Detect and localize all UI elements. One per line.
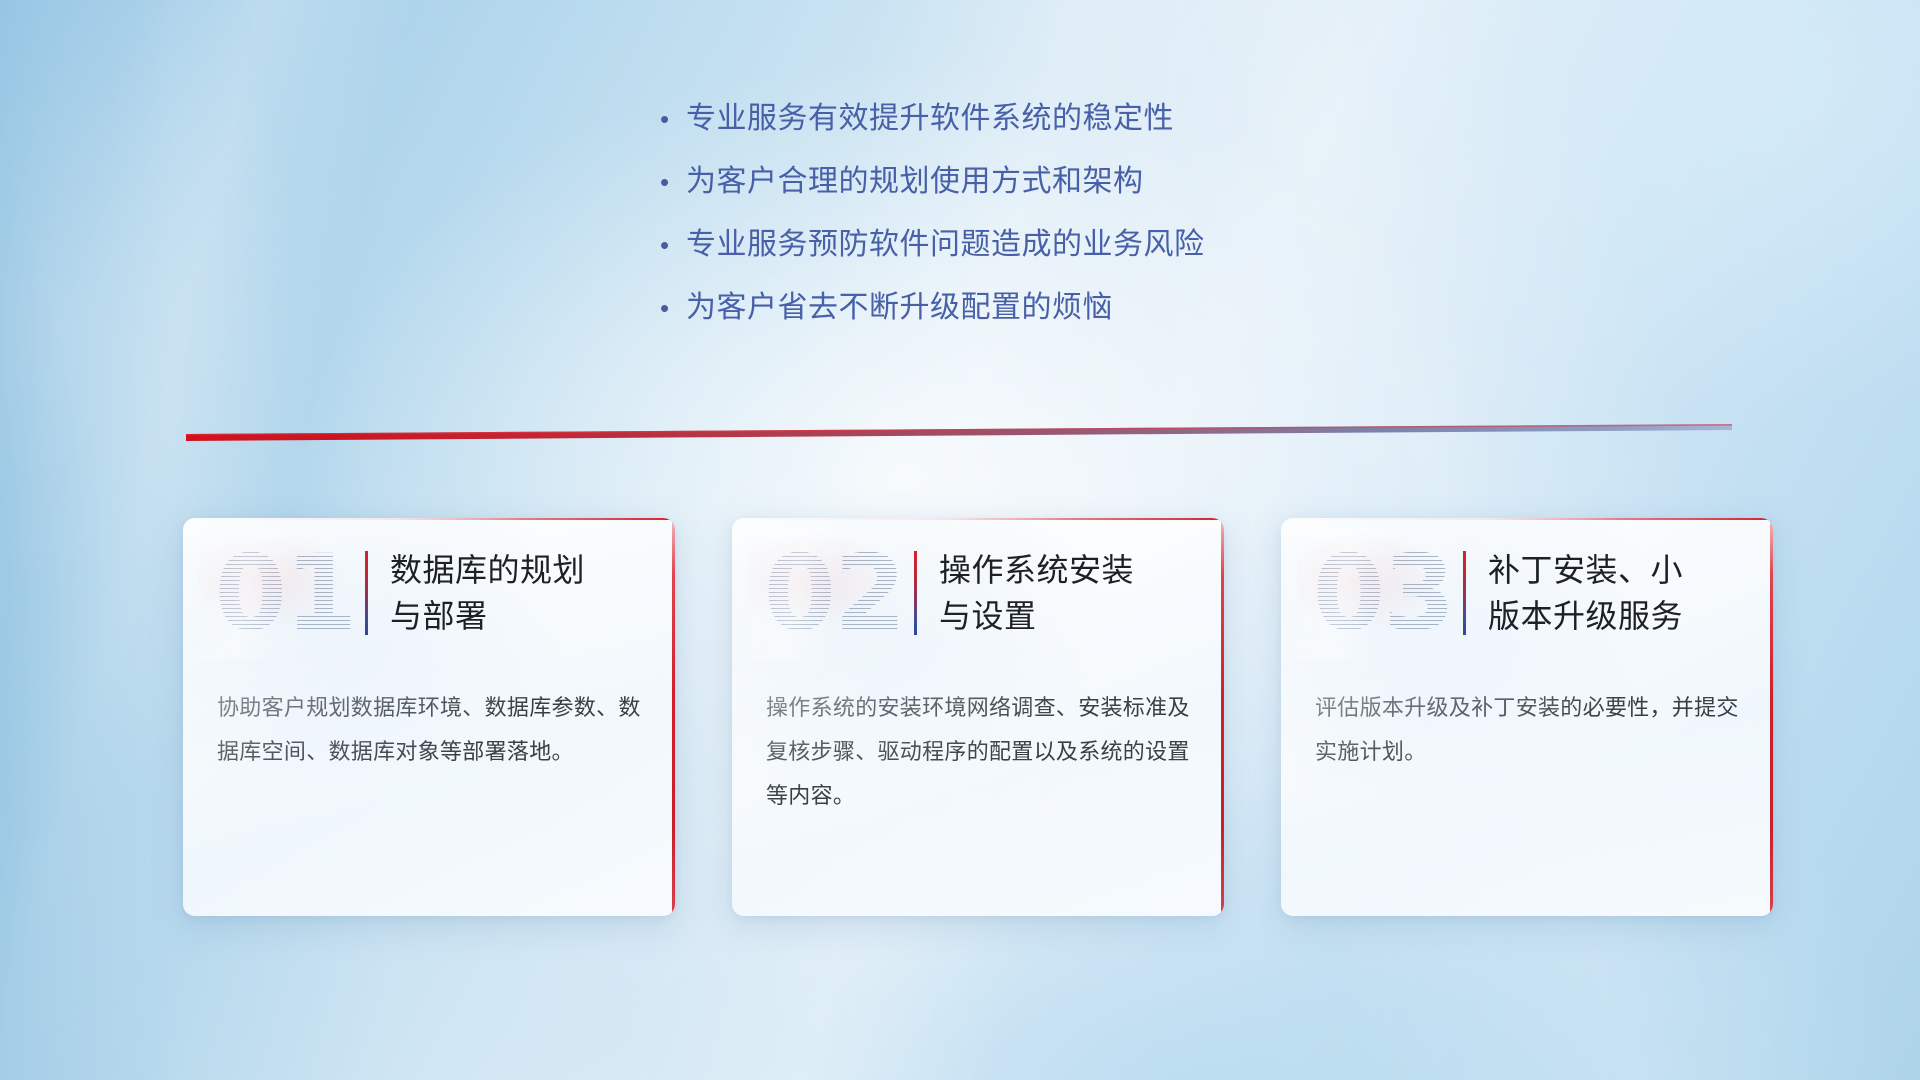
service-card-list: 01 数据库的规划 与部署 协助客户规划数据库环境、数据库参数、数据库空间、数据… <box>183 518 1773 916</box>
card-title-line-1: 补丁安装、小 <box>1488 547 1683 593</box>
card-header: 02 操作系统安装 与设置 <box>732 518 1224 668</box>
card-title-line-2: 与设置 <box>939 593 1134 639</box>
card-title-line-2: 与部署 <box>390 593 585 639</box>
card-title-line-2: 版本升级服务 <box>1488 593 1683 639</box>
bullet-item-2: • 为客户合理的规划使用方式和架构 <box>660 163 1360 226</box>
card-title: 操作系统安装 与设置 <box>939 547 1134 639</box>
bullet-item-3: • 专业服务预防软件问题造成的业务风险 <box>660 226 1360 289</box>
bullet-item-4: • 为客户省去不断升级配置的烦恼 <box>660 289 1360 352</box>
card-description: 协助客户规划数据库环境、数据库参数、数据库空间、数据库对象等部署落地。 <box>183 668 675 774</box>
card-title-line-1: 操作系统安装 <box>939 547 1134 593</box>
card-header: 01 数据库的规划 与部署 <box>183 518 675 668</box>
card-title-accent-bar <box>914 551 917 635</box>
bullet-dot-icon: • <box>660 289 686 327</box>
service-card-02[interactable]: 02 操作系统安装 与设置 操作系统的安装环境网络调查、安装标准及复核步骤、驱动… <box>732 518 1224 916</box>
bullet-item-label: 专业服务预防软件问题造成的业务风险 <box>686 226 1205 264</box>
card-header: 03 补丁安装、小 版本升级服务 <box>1281 518 1773 668</box>
tapered-red-divider-icon <box>186 424 1732 450</box>
bullet-item-label: 专业服务有效提升软件系统的稳定性 <box>686 100 1174 138</box>
card-description: 评估版本升级及补丁安装的必要性，并提交实施计划。 <box>1281 668 1773 774</box>
card-title-line-1: 数据库的规划 <box>390 547 585 593</box>
bullet-item-label: 为客户合理的规划使用方式和架构 <box>686 163 1144 201</box>
section-divider <box>186 424 1732 450</box>
card-title: 数据库的规划 与部署 <box>390 547 585 639</box>
bullet-dot-icon: • <box>660 226 686 264</box>
benefits-bullet-list: • 专业服务有效提升软件系统的稳定性 • 为客户合理的规划使用方式和架构 • 专… <box>660 100 1360 352</box>
bullet-item-1: • 专业服务有效提升软件系统的稳定性 <box>660 100 1360 163</box>
slide-canvas: • 专业服务有效提升软件系统的稳定性 • 为客户合理的规划使用方式和架构 • 专… <box>0 0 1920 1080</box>
bullet-dot-icon: • <box>660 100 686 138</box>
service-card-03[interactable]: 03 补丁安装、小 版本升级服务 评估版本升级及补丁安装的必要性，并提交实施计划… <box>1281 518 1773 916</box>
bullet-dot-icon: • <box>660 163 686 201</box>
card-step-number: 01 <box>209 533 361 653</box>
card-title-accent-bar <box>365 551 368 635</box>
card-description: 操作系统的安装环境网络调查、安装标准及复核步骤、驱动程序的配置以及系统的设置等内… <box>732 668 1224 818</box>
card-step-number: 03 <box>1307 533 1459 653</box>
card-title: 补丁安装、小 版本升级服务 <box>1488 547 1683 639</box>
card-step-number: 02 <box>758 533 910 653</box>
card-title-accent-bar <box>1463 551 1466 635</box>
bullet-item-label: 为客户省去不断升级配置的烦恼 <box>686 289 1113 327</box>
service-card-01[interactable]: 01 数据库的规划 与部署 协助客户规划数据库环境、数据库参数、数据库空间、数据… <box>183 518 675 916</box>
